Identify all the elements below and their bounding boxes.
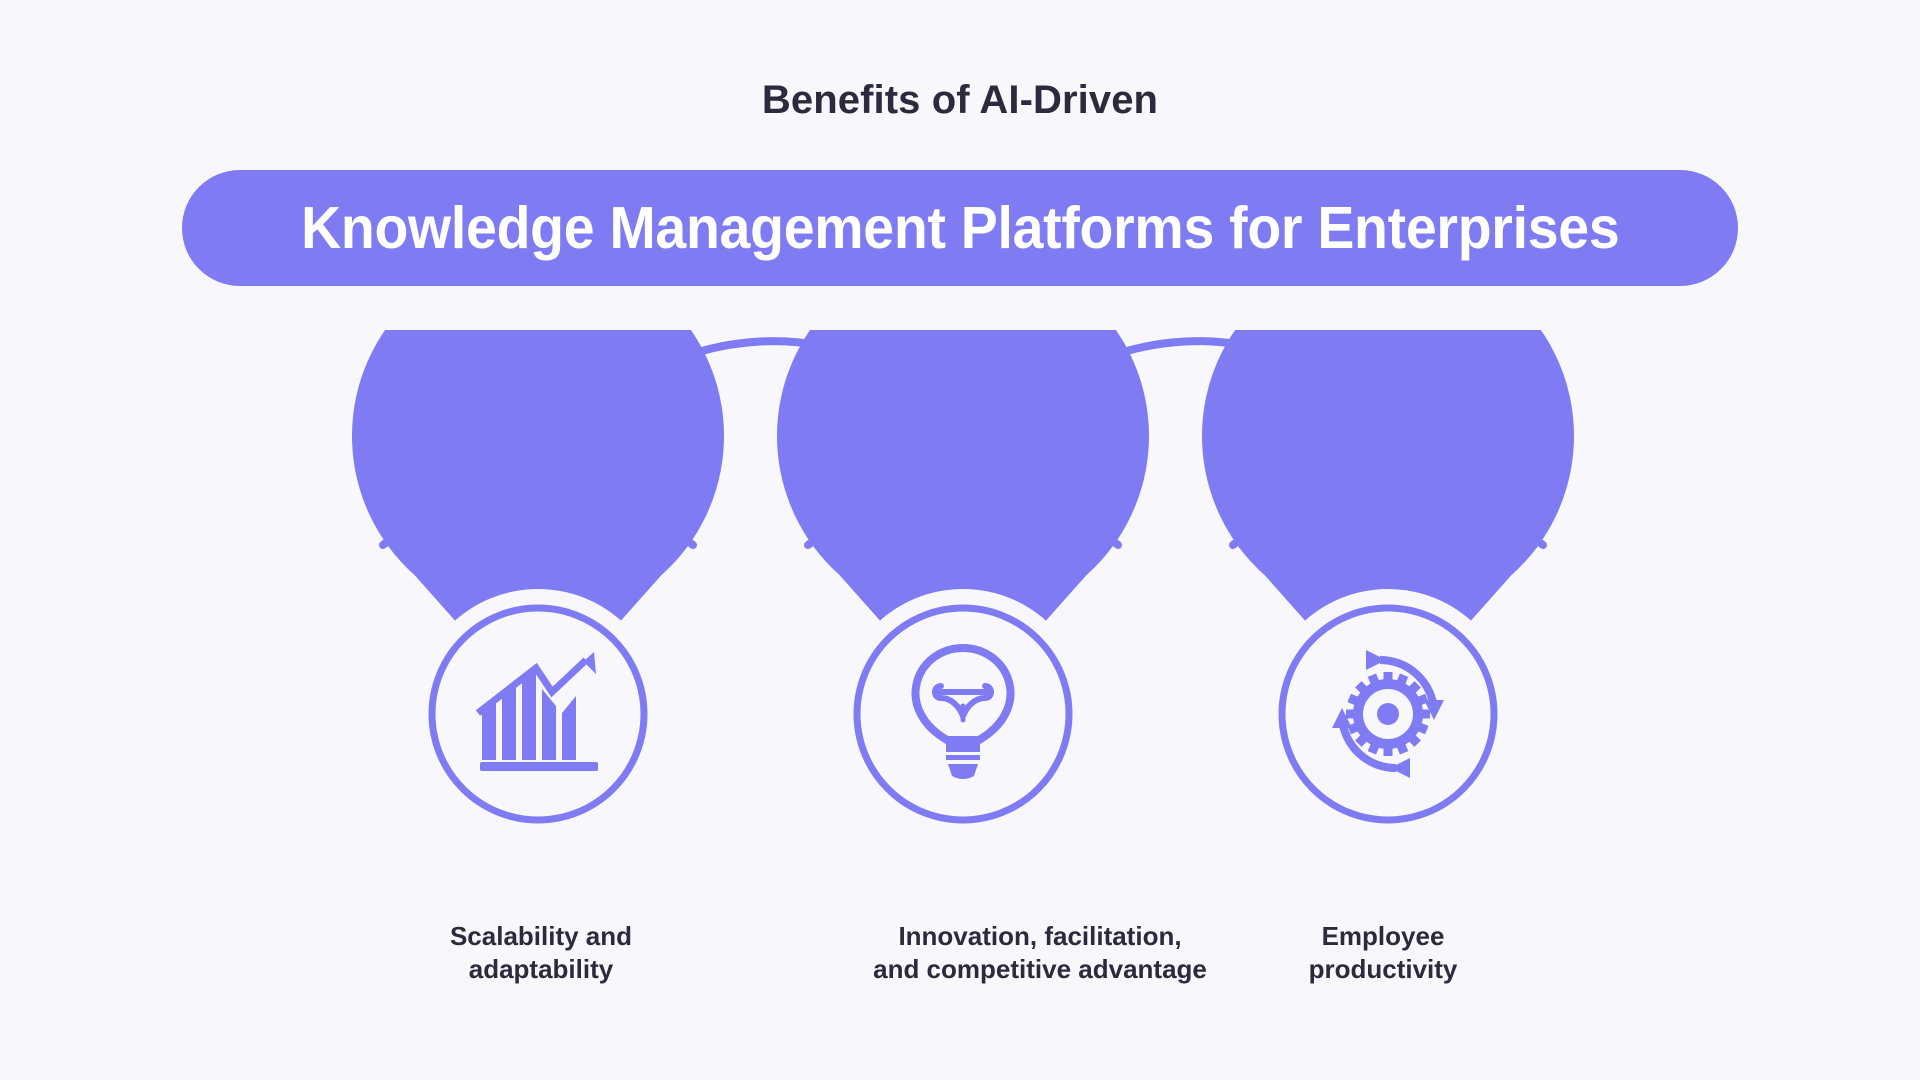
step-caption-3-line-1: Employee — [1228, 920, 1538, 953]
page-title: Knowledge Management Platforms for Enter… — [301, 194, 1619, 262]
step-inner-disc-1 — [413, 589, 663, 839]
step-caption-1-line-1: Scalability and — [386, 920, 696, 953]
step-caption-1: Scalability and adaptability — [386, 920, 696, 986]
process-step-3[interactable]: 3 — [1202, 330, 1574, 839]
page-kicker: Benefits of AI-Driven — [0, 78, 1920, 123]
step-caption-3: Employee productivity — [1228, 920, 1538, 986]
process-step-2[interactable]: 2 — [777, 330, 1149, 839]
step-caption-1-line-2: adaptability — [386, 953, 696, 986]
step-caption-3-line-2: productivity — [1228, 953, 1538, 986]
infographic-root: Benefits of AI-Driven Knowledge Manageme… — [0, 0, 1920, 1080]
caption-row: Scalability and adaptability Innovation,… — [0, 920, 1920, 1030]
title-banner: Knowledge Management Platforms for Enter… — [182, 170, 1738, 286]
process-step-1[interactable]: 1 — [352, 330, 724, 839]
